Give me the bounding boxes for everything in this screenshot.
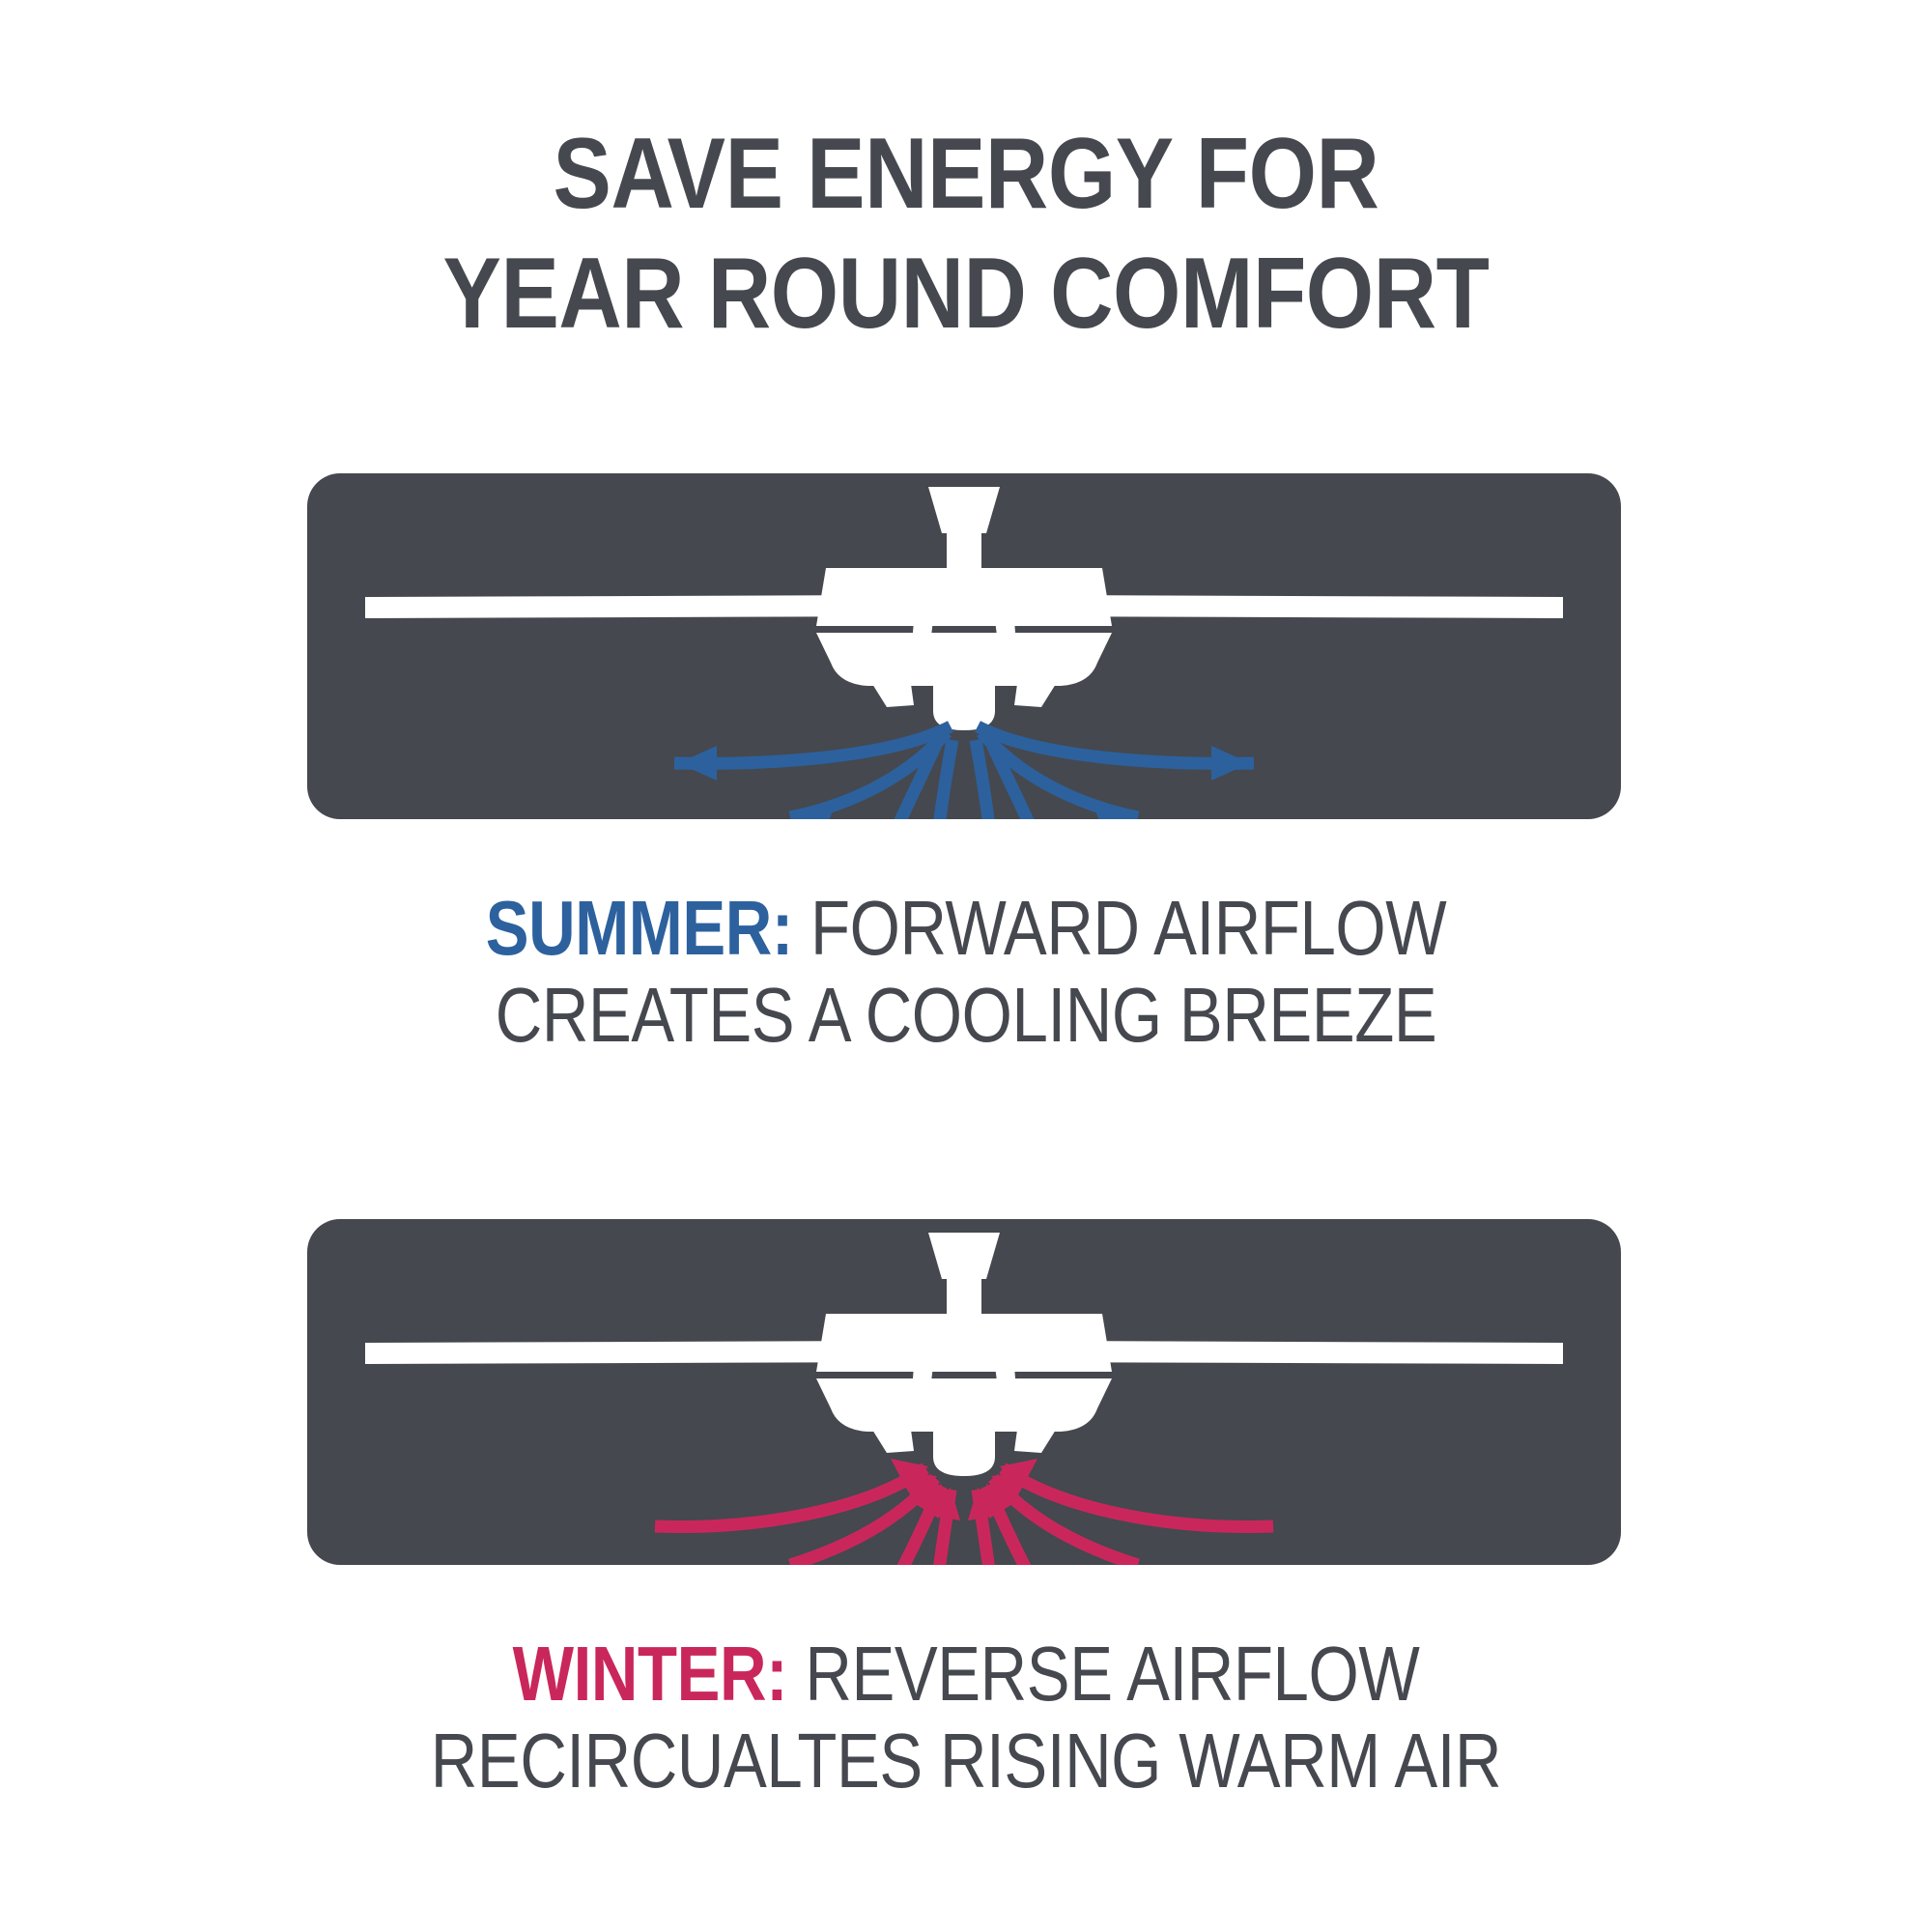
fan-downrod [947,533,981,568]
winter-caption-line-1-rest: REVERSE AIRFLOW [787,1631,1419,1717]
infographic-root: SAVE ENERGY FOR YEAR ROUND COMFORT [0,0,1932,1932]
fan-bracket-right-arm [1014,1430,1056,1453]
fan-bracket-left-arm [872,684,914,707]
page-title: SAVE ENERGY FOR YEAR ROUND COMFORT [0,124,1932,344]
summer-caption-line-2: CREATES A COOLING BREEZE [155,972,1777,1059]
winter-fan-diagram [307,1219,1621,1565]
summer-caption-line-1: SUMMER: FORWARD AIRFLOW [155,885,1777,972]
summer-caption: SUMMER: FORWARD AIRFLOW CREATES A COOLIN… [0,885,1932,1059]
summer-airflow-arrows [674,726,1254,819]
fan-canopy [928,1233,1000,1279]
fan-lower-bowl [816,1378,1112,1432]
fan-motor-housing [816,568,1112,626]
fan-light-kit [933,678,995,730]
summer-label: SUMMER: [486,885,793,971]
summer-caption-line-1-rest: FORWARD AIRFLOW [793,885,1447,971]
summer-illustration-panel [307,473,1621,819]
airflow-arrowhead-r1 [1211,746,1250,781]
summer-fan-diagram [307,473,1621,819]
fan-light-kit [933,1424,995,1476]
fan-housing-seam [816,1372,1112,1378]
airflow-arrowhead-l1 [678,746,717,781]
winter-caption-line-1: WINTER: REVERSE AIRFLOW [155,1631,1777,1718]
fan-motor-housing [816,1314,1112,1372]
fan-downrod [947,1279,981,1314]
winter-caption-line-2: RECIRCUALTES RISING WARM AIR [155,1718,1777,1804]
title-line-2: YEAR ROUND COMFORT [126,243,1806,344]
fan-bracket-right-arm [1014,684,1056,707]
winter-caption: WINTER: REVERSE AIRFLOW RECIRCUALTES RIS… [0,1631,1932,1804]
winter-illustration-panel [307,1219,1621,1565]
fan-canopy [928,487,1000,533]
title-line-1: SAVE ENERGY FOR [126,124,1806,224]
fan-bracket-left-arm [872,1430,914,1453]
winter-label: WINTER: [513,1631,787,1717]
fan-housing-seam [816,626,1112,633]
